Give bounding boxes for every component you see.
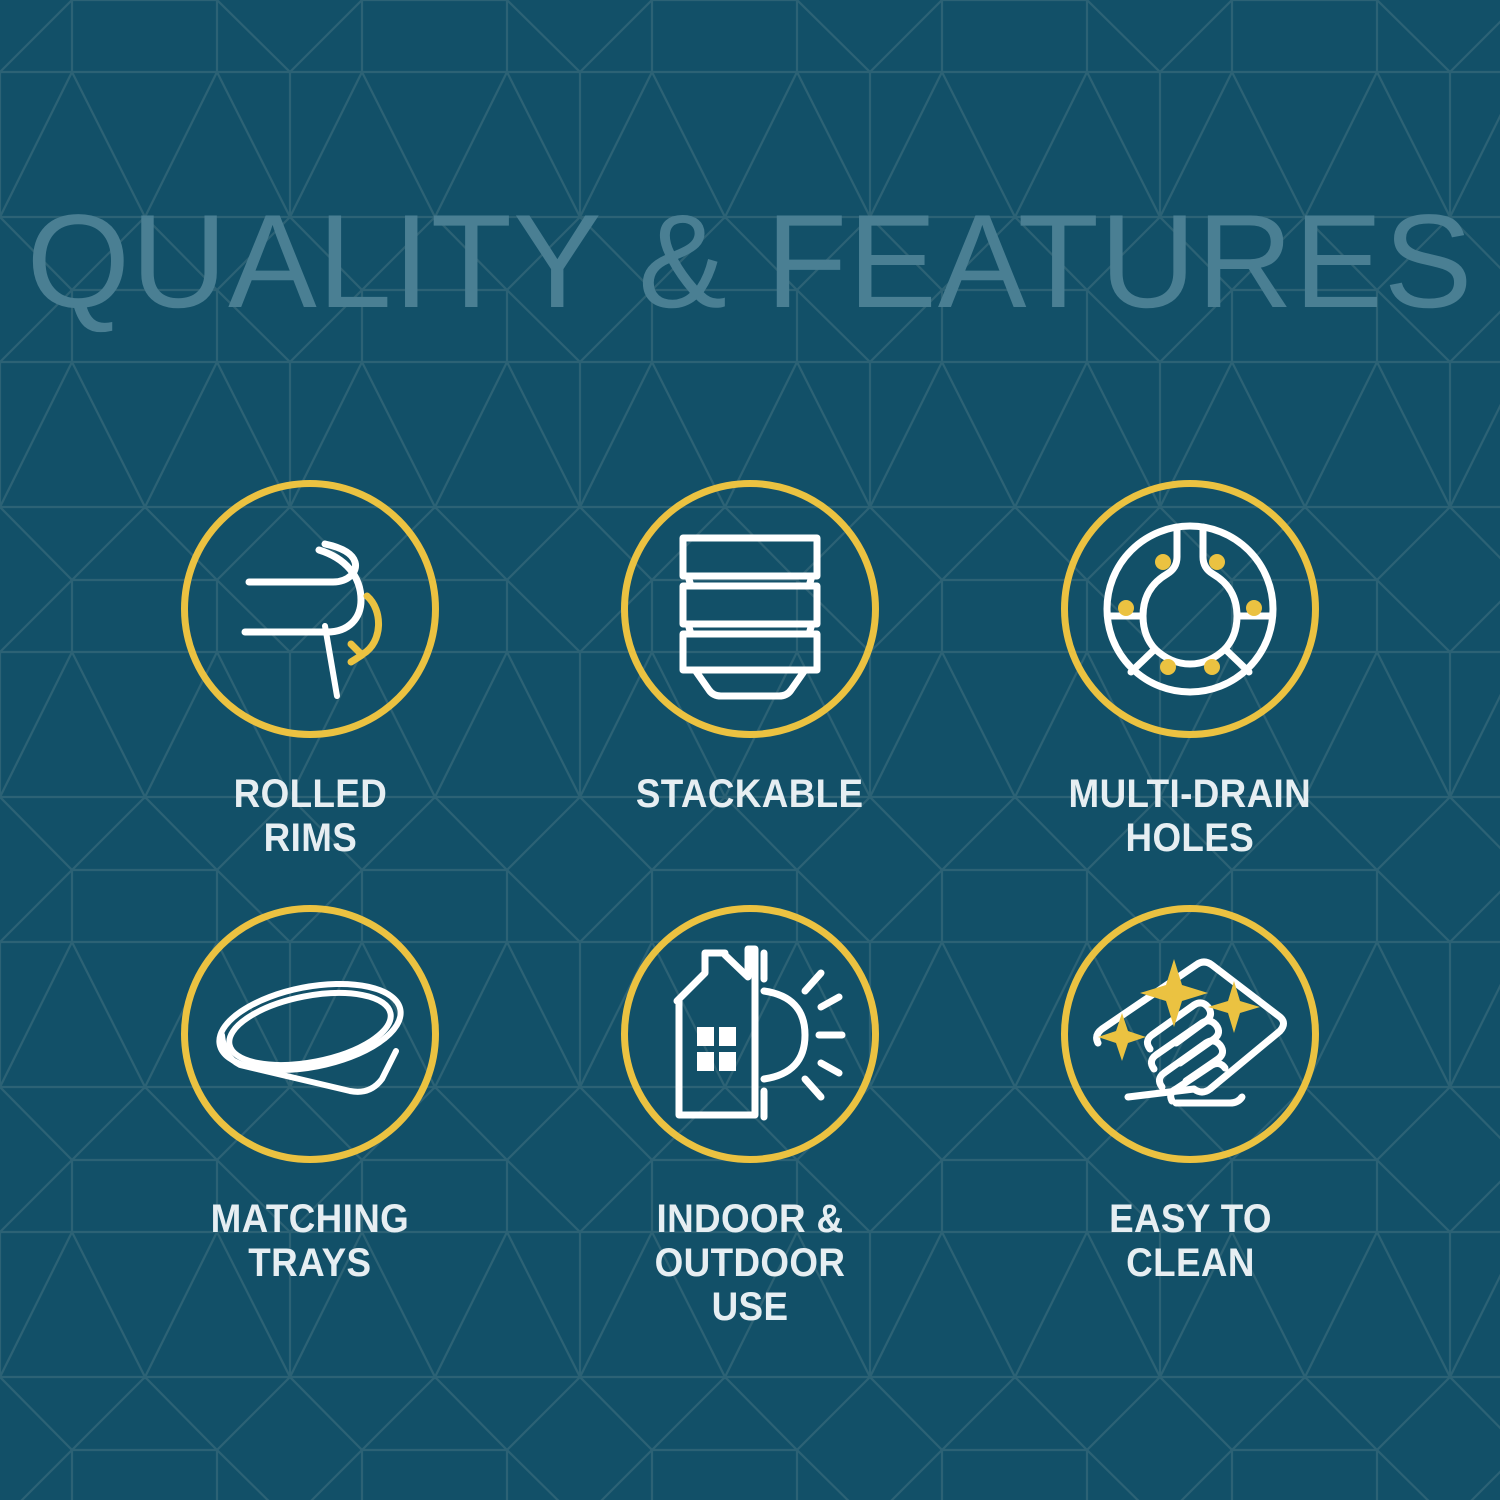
feature-stackable[interactable]: STACKABLE: [600, 480, 900, 905]
features-grid: ROLLED RIMS STACKABLE: [90, 480, 1410, 1330]
feature-matching-trays[interactable]: MATCHING TRAYS: [160, 905, 460, 1330]
icon-ring: [621, 480, 879, 738]
icon-ring: [181, 480, 439, 738]
feature-label: MATCHING TRAYS: [211, 1197, 410, 1285]
wiping-hand-sparkle-icon: [1090, 939, 1290, 1129]
icon-ring: [1061, 480, 1319, 738]
feature-label: ROLLED RIMS: [233, 772, 386, 860]
icon-ring: [1061, 905, 1319, 1163]
drain-holes-icon: [1093, 512, 1288, 707]
feature-indoor-outdoor-use[interactable]: INDOOR & OUTDOOR USE: [600, 905, 900, 1330]
icon-ring: [621, 905, 879, 1163]
feature-easy-to-clean[interactable]: EASY TO CLEAN: [1040, 905, 1340, 1330]
feature-label: EASY TO CLEAN: [1109, 1197, 1272, 1285]
feature-label: MULTI-DRAIN HOLES: [1069, 772, 1312, 860]
tray-saucer-icon: [210, 939, 410, 1129]
feature-multi-drain-holes[interactable]: MULTI-DRAIN HOLES: [1040, 480, 1340, 905]
feature-label: STACKABLE: [636, 772, 864, 816]
house-sun-icon: [653, 939, 848, 1129]
page-title: QUALITY & FEATURES: [0, 196, 1500, 329]
stacked-pots-icon: [655, 514, 845, 704]
rolled-rim-icon: [215, 514, 405, 704]
feature-rolled-rims[interactable]: ROLLED RIMS: [160, 480, 460, 905]
feature-label: INDOOR & OUTDOOR USE: [612, 1197, 888, 1329]
icon-ring: [181, 905, 439, 1163]
